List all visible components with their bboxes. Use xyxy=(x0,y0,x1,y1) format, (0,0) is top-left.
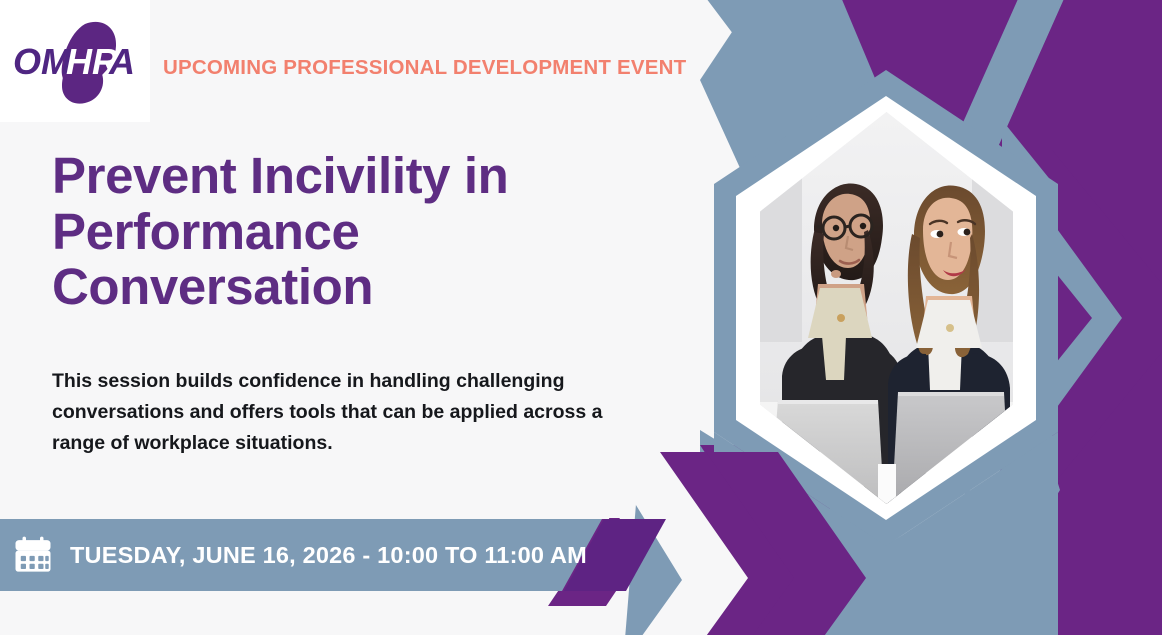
omhra-logo-icon: OM HR A xyxy=(10,15,140,107)
photo-illustration xyxy=(760,112,1013,504)
svg-text:OM: OM xyxy=(13,41,72,82)
event-datetime-bar: TUESDAY, JUNE 16, 2026 - 10:00 TO 11:00 … xyxy=(0,519,680,591)
svg-text:A: A xyxy=(108,41,135,82)
event-photo xyxy=(760,112,1013,504)
omhra-logo[interactable]: OM HR A xyxy=(0,0,150,122)
session-description: This session builds confidence in handli… xyxy=(52,366,617,458)
page-title: Prevent Incivility in Performance Conver… xyxy=(52,148,612,315)
kicker-label: UPCOMING PROFESSIONAL DEVELOPMENT EVENT xyxy=(163,56,686,80)
event-datetime-label: TUESDAY, JUNE 16, 2026 - 10:00 TO 11:00 … xyxy=(70,542,587,569)
event-banner: OM HR A UPCOMING PROFESSIONAL DEVELOPMEN… xyxy=(0,0,1162,635)
calendar-icon xyxy=(12,534,54,576)
